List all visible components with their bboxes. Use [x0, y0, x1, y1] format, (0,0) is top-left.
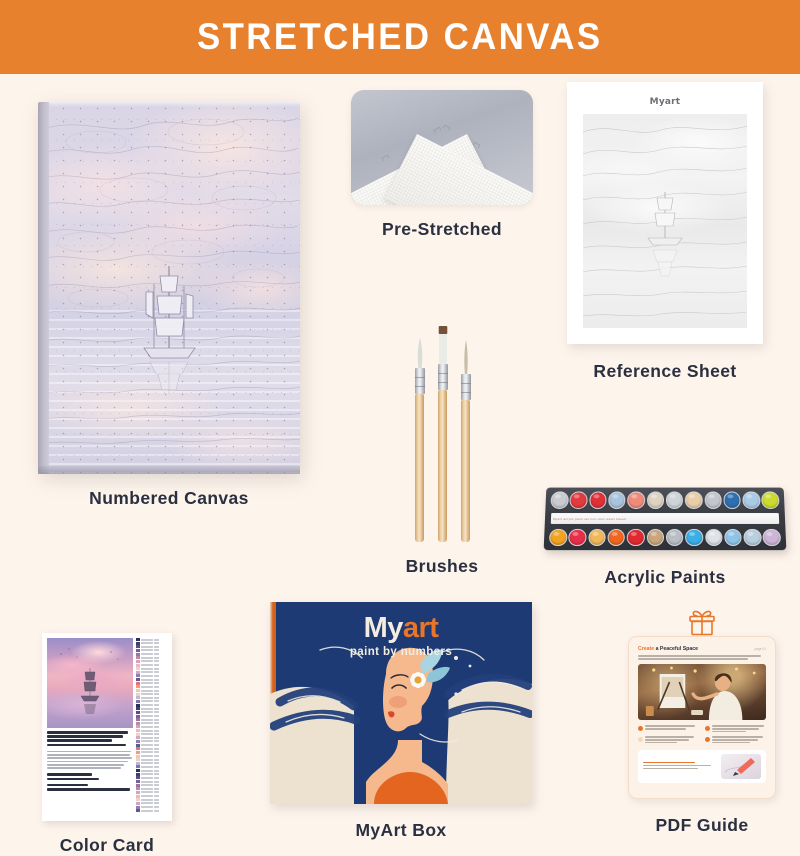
- legend-code: [141, 766, 153, 768]
- caption-brushes: Brushes: [367, 556, 517, 577]
- legend-color-swatch: [136, 642, 140, 645]
- legend-qty: [154, 646, 159, 648]
- brush-tip-liner: [461, 340, 470, 374]
- paint-pot: [666, 491, 683, 508]
- legend-qty: [154, 704, 159, 706]
- logo-my: My: [364, 612, 403, 644]
- legend-row: [136, 805, 167, 808]
- legend-code: [141, 740, 153, 742]
- myart-logo-text: Myart: [583, 97, 747, 107]
- brush-liner: [461, 358, 470, 542]
- legend-color-swatch: [136, 758, 140, 761]
- legend-code: [141, 653, 153, 655]
- legend-color-swatch: [136, 689, 140, 692]
- paint-pot: [570, 491, 588, 508]
- paint-pot: [627, 528, 645, 546]
- legend-qty: [154, 671, 159, 673]
- legend-qty: [154, 777, 159, 779]
- legend-row: [136, 751, 167, 754]
- paint-pot: [627, 491, 645, 508]
- legend-color-swatch: [136, 769, 140, 772]
- logo-tagline: paint by numbers: [270, 646, 532, 658]
- legend-row: [136, 780, 167, 783]
- legend-row: [136, 802, 167, 805]
- legend-qty: [154, 751, 159, 753]
- legend-row: [136, 795, 167, 798]
- legend-code: [141, 773, 153, 775]
- legend-color-swatch: [136, 645, 140, 648]
- legend-color-swatch: [136, 700, 140, 703]
- legend-code: [141, 711, 153, 713]
- paint-pot: [723, 491, 741, 508]
- legend-qty: [154, 690, 159, 692]
- numbered-canvas-image: [38, 102, 300, 474]
- legend-code: [141, 700, 153, 702]
- paint-pot: [550, 491, 568, 508]
- item-pre-stretched: Pre-Stretched: [351, 90, 533, 240]
- product-contents-grid: Numbered Canvas Pre-Stretched Myart: [0, 74, 800, 800]
- staple-icon: [442, 125, 450, 132]
- guide-photo: [638, 664, 766, 720]
- paint-pot: [685, 528, 703, 546]
- legend-qty: [154, 679, 159, 681]
- legend-color-swatch: [136, 809, 140, 812]
- legend-color-swatch: [136, 725, 140, 728]
- legend-qty: [154, 642, 159, 644]
- tip-bullet-icon: [638, 726, 643, 731]
- legend-code: [141, 690, 153, 692]
- legend-row: [136, 693, 167, 696]
- legend-code: [141, 686, 153, 688]
- legend-code: [141, 682, 153, 684]
- paint-pot: [589, 491, 607, 508]
- legend-qty: [154, 740, 159, 742]
- legend-color-swatch: [136, 638, 140, 641]
- legend-code: [141, 770, 153, 772]
- legend-color-swatch: [136, 736, 140, 739]
- legend-row: [136, 791, 167, 794]
- paint-pot: [704, 491, 722, 508]
- brush-tip-flat: [437, 326, 448, 364]
- legend-color-swatch: [136, 773, 140, 776]
- legend-color-swatch: [136, 685, 140, 688]
- legend-code: [141, 704, 153, 706]
- color-card-artwork: [47, 638, 133, 728]
- legend-color-swatch: [136, 791, 140, 794]
- legend-color-swatch: [136, 729, 140, 732]
- legend-color-swatch: [136, 747, 140, 750]
- paint-tray-label: MyArt acrylic paint set non-toxic water …: [551, 513, 779, 524]
- legend-row: [136, 765, 167, 768]
- legend-row: [136, 762, 167, 765]
- legend-row: [136, 740, 167, 743]
- legend-row: [136, 674, 167, 677]
- item-myart-box: Myart paint by numbers MyArt Box: [270, 602, 532, 841]
- legend-qty: [154, 668, 159, 670]
- guide-tip: [638, 736, 700, 744]
- reference-sheet-artwork: [583, 114, 747, 328]
- paint-pot-row-bottom: [549, 528, 781, 546]
- legend-qty: [154, 719, 159, 721]
- reference-sheet-paper: Myart: [567, 82, 763, 344]
- legend-qty: [154, 693, 159, 695]
- legend-code: [141, 810, 153, 812]
- legend-row: [136, 736, 167, 739]
- legend-code: [141, 642, 153, 644]
- legend-code: [141, 748, 153, 750]
- legend-qty: [154, 770, 159, 772]
- legend-color-swatch: [136, 715, 140, 718]
- legend-code: [141, 737, 153, 739]
- paint-pot: [607, 528, 625, 546]
- page-header: STRETCHED CANVAS: [0, 0, 800, 74]
- legend-code: [141, 668, 153, 670]
- paint-pot: [608, 491, 626, 508]
- legend-row: [136, 773, 167, 776]
- legend-row: [136, 809, 167, 812]
- paint-pot: [568, 528, 586, 546]
- legend-code: [141, 693, 153, 695]
- legend-color-swatch: [136, 740, 140, 743]
- legend-qty: [154, 773, 159, 775]
- guide-title-rest: a Peaceful Space: [654, 646, 698, 652]
- legend-qty: [154, 649, 159, 651]
- legend-code: [141, 781, 153, 783]
- staple-icon: [381, 155, 389, 162]
- brush-round: [415, 354, 424, 542]
- legend-row: [136, 682, 167, 685]
- legend-qty: [154, 715, 159, 717]
- paint-pot: [549, 528, 567, 546]
- legend-code: [141, 639, 153, 641]
- legend-qty: [154, 682, 159, 684]
- legend-qty: [154, 639, 159, 641]
- legend-code: [141, 675, 153, 677]
- legend-code: [141, 806, 153, 808]
- legend-row: [136, 696, 167, 699]
- legend-color-swatch: [136, 682, 140, 685]
- legend-qty: [154, 657, 159, 659]
- legend-qty: [154, 700, 159, 702]
- legend-row: [136, 663, 167, 666]
- legend-code: [141, 733, 153, 735]
- legend-code: [141, 802, 153, 804]
- legend-code: [141, 697, 153, 699]
- paint-pot: [724, 528, 742, 546]
- guide-tip: [705, 725, 767, 733]
- guide-tip: [638, 725, 700, 733]
- paint-pot: [763, 528, 781, 546]
- legend-row: [136, 729, 167, 732]
- legend-row: [136, 744, 167, 747]
- legend-qty: [154, 788, 159, 790]
- legend-color-swatch: [136, 780, 140, 783]
- paint-pot: [761, 491, 779, 508]
- guide-note-thumbnail: [721, 754, 761, 779]
- legend-color-swatch: [136, 678, 140, 681]
- legend-color-swatch: [136, 696, 140, 699]
- paint-pot: [647, 491, 664, 508]
- legend-code: [141, 664, 153, 666]
- caption-pre-stretched: Pre-Stretched: [351, 219, 533, 240]
- legend-row: [136, 747, 167, 750]
- legend-color-swatch: [136, 722, 140, 725]
- legend-color-swatch: [136, 718, 140, 721]
- legend-qty: [154, 810, 159, 812]
- legend-qty: [154, 759, 159, 761]
- legend-color-swatch: [136, 653, 140, 656]
- paint-pot: [666, 528, 684, 546]
- legend-row: [136, 722, 167, 725]
- legend-qty: [154, 664, 159, 666]
- legend-code: [141, 649, 153, 651]
- canvas-bottom-shadow: [38, 466, 300, 474]
- legend-qty: [154, 795, 159, 797]
- paint-pot-row-top: [550, 491, 779, 508]
- legend-row: [136, 638, 167, 641]
- legend-qty: [154, 755, 159, 757]
- legend-row: [136, 718, 167, 721]
- myart-box-image: Myart paint by numbers: [270, 602, 532, 804]
- legend-qty: [154, 781, 159, 783]
- paint-pot: [742, 491, 760, 508]
- color-card-instructions: [47, 731, 133, 816]
- legend-row: [136, 645, 167, 648]
- legend-row: [136, 784, 167, 787]
- staple-icon: [433, 127, 441, 134]
- legend-color-swatch: [136, 733, 140, 736]
- legend-qty: [154, 730, 159, 732]
- legend-color-swatch: [136, 802, 140, 805]
- legend-color-swatch: [136, 660, 140, 663]
- legend-row: [136, 769, 167, 772]
- legend-row: [136, 787, 167, 790]
- legend-row: [136, 776, 167, 779]
- page-title: STRETCHED CANVAS: [197, 16, 603, 58]
- legend-row: [136, 700, 167, 703]
- legend-code: [141, 722, 153, 724]
- legend-color-swatch: [136, 693, 140, 696]
- item-color-card: Color Card: [42, 633, 172, 856]
- legend-row: [136, 707, 167, 710]
- legend-qty: [154, 722, 159, 724]
- legend-row: [136, 656, 167, 659]
- pre-stretched-photo: [351, 90, 533, 205]
- legend-row: [136, 649, 167, 652]
- legend-color-swatch: [136, 667, 140, 670]
- legend-color-swatch: [136, 711, 140, 714]
- color-card-ship: [47, 638, 133, 728]
- legend-row: [136, 642, 167, 645]
- guide-title-highlight: Create: [638, 646, 654, 652]
- legend-color-swatch: [136, 751, 140, 754]
- color-card-legend-table: [136, 638, 167, 816]
- legend-color-swatch: [136, 664, 140, 667]
- legend-row: [136, 711, 167, 714]
- legend-color-swatch: [136, 787, 140, 790]
- item-numbered-canvas: Numbered Canvas: [38, 102, 300, 509]
- legend-qty: [154, 653, 159, 655]
- legend-code: [141, 726, 153, 728]
- color-card-left-column: [47, 638, 133, 816]
- logo-art: art: [403, 612, 439, 644]
- legend-code: [141, 671, 153, 673]
- legend-qty: [154, 733, 159, 735]
- legend-code: [141, 788, 153, 790]
- legend-row: [136, 755, 167, 758]
- legend-color-swatch: [136, 806, 140, 809]
- caption-color-card: Color Card: [42, 835, 172, 856]
- reference-contour-lines: [583, 114, 747, 328]
- tip-bullet-icon: [705, 737, 710, 742]
- guide-title: Create a Peaceful Space: [638, 646, 698, 652]
- legend-row: [136, 733, 167, 736]
- legend-qty: [154, 675, 159, 677]
- legend-code: [141, 715, 153, 717]
- legend-qty: [154, 726, 159, 728]
- legend-color-swatch: [136, 656, 140, 659]
- caption-acrylic-paints: Acrylic Paints: [545, 567, 785, 588]
- legend-color-swatch: [136, 784, 140, 787]
- legend-color-swatch: [136, 704, 140, 707]
- paint-pot: [685, 491, 703, 508]
- legend-qty: [154, 766, 159, 768]
- caption-pdf-guide: PDF Guide: [628, 815, 776, 836]
- legend-qty: [154, 708, 159, 710]
- legend-code: [141, 660, 153, 662]
- legend-color-swatch: [136, 762, 140, 765]
- legend-qty: [154, 748, 159, 750]
- paint-pot: [705, 528, 723, 546]
- legend-code: [141, 759, 153, 761]
- legend-code: [141, 784, 153, 786]
- tip-bullet-icon: [638, 737, 643, 742]
- legend-qty: [154, 806, 159, 808]
- legend-row: [136, 667, 167, 670]
- legend-qty: [154, 762, 159, 764]
- legend-code: [141, 791, 153, 793]
- item-pdf-guide: Create a Peaceful Space page 01: [628, 610, 776, 836]
- legend-code: [141, 646, 153, 648]
- legend-color-swatch: [136, 649, 140, 652]
- paint-pot: [588, 528, 606, 546]
- legend-color-swatch: [136, 755, 140, 758]
- legend-code: [141, 795, 153, 797]
- legend-row: [136, 660, 167, 663]
- legend-code: [141, 755, 153, 757]
- legend-row: [136, 725, 167, 728]
- legend-qty: [154, 697, 159, 699]
- item-brushes: Brushes: [398, 337, 486, 577]
- legend-code: [141, 657, 153, 659]
- item-reference-sheet: Myart: [567, 82, 763, 382]
- paint-tray: MyArt acrylic paint set non-toxic water …: [544, 488, 787, 551]
- brush-flat: [438, 342, 447, 542]
- legend-code: [141, 751, 153, 753]
- brush-group: [398, 337, 486, 542]
- legend-color-swatch: [136, 744, 140, 747]
- legend-row: [136, 671, 167, 674]
- caption-numbered-canvas: Numbered Canvas: [38, 488, 300, 509]
- legend-color-swatch: [136, 707, 140, 710]
- legend-qty: [154, 711, 159, 713]
- legend-code: [141, 744, 153, 746]
- item-acrylic-paints: MyArt acrylic paint set non-toxic water …: [545, 487, 785, 588]
- legend-row: [136, 758, 167, 761]
- pdf-guide-page: Create a Peaceful Space page 01: [628, 636, 776, 799]
- legend-row: [136, 704, 167, 707]
- legend-qty: [154, 744, 159, 746]
- legend-qty: [154, 784, 159, 786]
- legend-qty: [154, 737, 159, 739]
- legend-row: [136, 653, 167, 656]
- gift-icon: [628, 610, 776, 636]
- paint-pot: [646, 528, 664, 546]
- guide-tip: [705, 736, 767, 744]
- tip-bullet-icon: [705, 726, 710, 731]
- legend-color-swatch: [136, 765, 140, 768]
- legend-code: [141, 679, 153, 681]
- color-card-paper: [42, 633, 172, 821]
- canvas-wrapped-edge: [38, 102, 49, 474]
- canvas-ship-motif: [130, 262, 208, 397]
- guide-page-label: page 01: [754, 647, 766, 651]
- legend-row: [136, 689, 167, 692]
- legend-row: [136, 685, 167, 688]
- legend-color-swatch: [136, 795, 140, 798]
- legend-qty: [154, 802, 159, 804]
- legend-qty: [154, 660, 159, 662]
- legend-color-swatch: [136, 671, 140, 674]
- guide-note-card: [638, 750, 766, 783]
- canvas-face: [38, 102, 300, 474]
- myart-logo: Myart paint by numbers: [270, 612, 532, 658]
- legend-code: [141, 719, 153, 721]
- legend-color-swatch: [136, 674, 140, 677]
- caption-reference-sheet: Reference Sheet: [567, 361, 763, 382]
- legend-qty: [154, 686, 159, 688]
- caption-myart-box: MyArt Box: [270, 820, 532, 841]
- legend-color-swatch: [136, 776, 140, 779]
- guide-tip-list: [638, 725, 766, 744]
- legend-row: [136, 714, 167, 717]
- paint-pot: [743, 528, 761, 546]
- legend-code: [141, 730, 153, 732]
- legend-row: [136, 678, 167, 681]
- legend-qty: [154, 791, 159, 793]
- legend-code: [141, 777, 153, 779]
- legend-code: [141, 762, 153, 764]
- brush-tip-round: [415, 338, 425, 368]
- canvas-top-highlight: [38, 102, 300, 107]
- legend-code: [141, 708, 153, 710]
